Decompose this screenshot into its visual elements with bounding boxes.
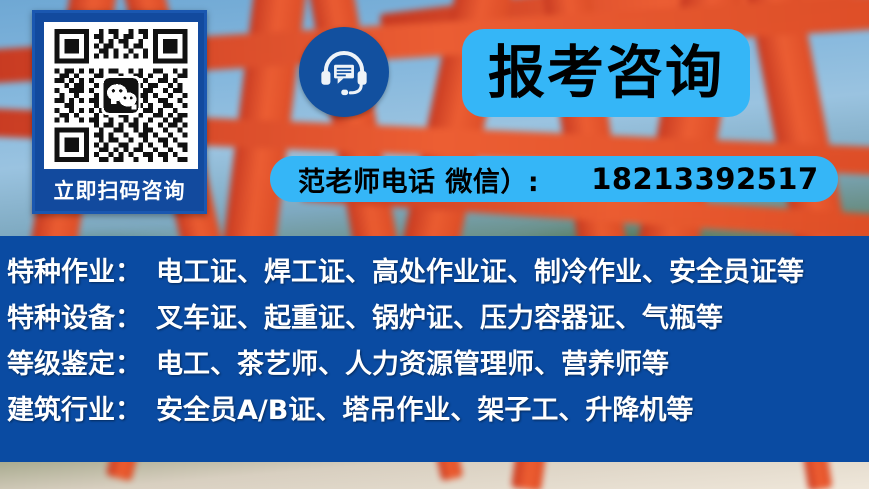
- service-row: 特种作业： 电工证、焊工证、高处作业证、制冷作业、安全员证等: [7, 250, 869, 296]
- contact-pill[interactable]: 范老师电话 微信）: 18213392517: [270, 156, 838, 202]
- service-category: 等级鉴定：: [7, 342, 142, 388]
- poster-canvas: 立即扫码咨询 报考咨询 范老师电话 微信）: 18213392517: [0, 0, 869, 489]
- contact-phone-number: 18213392517: [591, 162, 818, 196]
- service-items: 叉车证、起重证、锅炉证、压力容器证、气瓶等: [156, 296, 723, 342]
- service-category: 特种设备：: [7, 296, 142, 342]
- service-items: 电工证、焊工证、高处作业证、制冷作业、安全员证等: [156, 250, 804, 296]
- title-badge[interactable]: 报考咨询: [462, 29, 750, 117]
- service-category: 建筑行业：: [7, 388, 142, 434]
- qr-code-frame: [44, 22, 198, 169]
- service-items: 电工、茶艺师、人力资源管理师、营养师等: [156, 342, 669, 388]
- qr-card-label: 立即扫码咨询: [35, 175, 204, 205]
- qr-card[interactable]: 立即扫码咨询: [32, 10, 207, 214]
- service-row: 等级鉴定： 电工、茶艺师、人力资源管理师、营养师等: [7, 342, 869, 388]
- headset-icon: [315, 43, 373, 101]
- service-row: 特种设备： 叉车证、起重证、锅炉证、压力容器证、气瓶等: [7, 296, 869, 342]
- headset-badge[interactable]: [299, 27, 389, 117]
- title-badge-text: 报考咨询: [488, 45, 724, 102]
- services-band: 特种作业： 电工证、焊工证、高处作业证、制冷作业、安全员证等 特种设备： 叉车证…: [0, 236, 869, 462]
- qr-code-icon: [48, 24, 194, 167]
- service-items: 安全员A/B证、塔吊作业、架子工、升降机等: [156, 388, 693, 434]
- service-category: 特种作业：: [7, 250, 142, 296]
- contact-label: 范老师电话 微信）:: [298, 160, 539, 199]
- service-row: 建筑行业： 安全员A/B证、塔吊作业、架子工、升降机等: [7, 388, 869, 434]
